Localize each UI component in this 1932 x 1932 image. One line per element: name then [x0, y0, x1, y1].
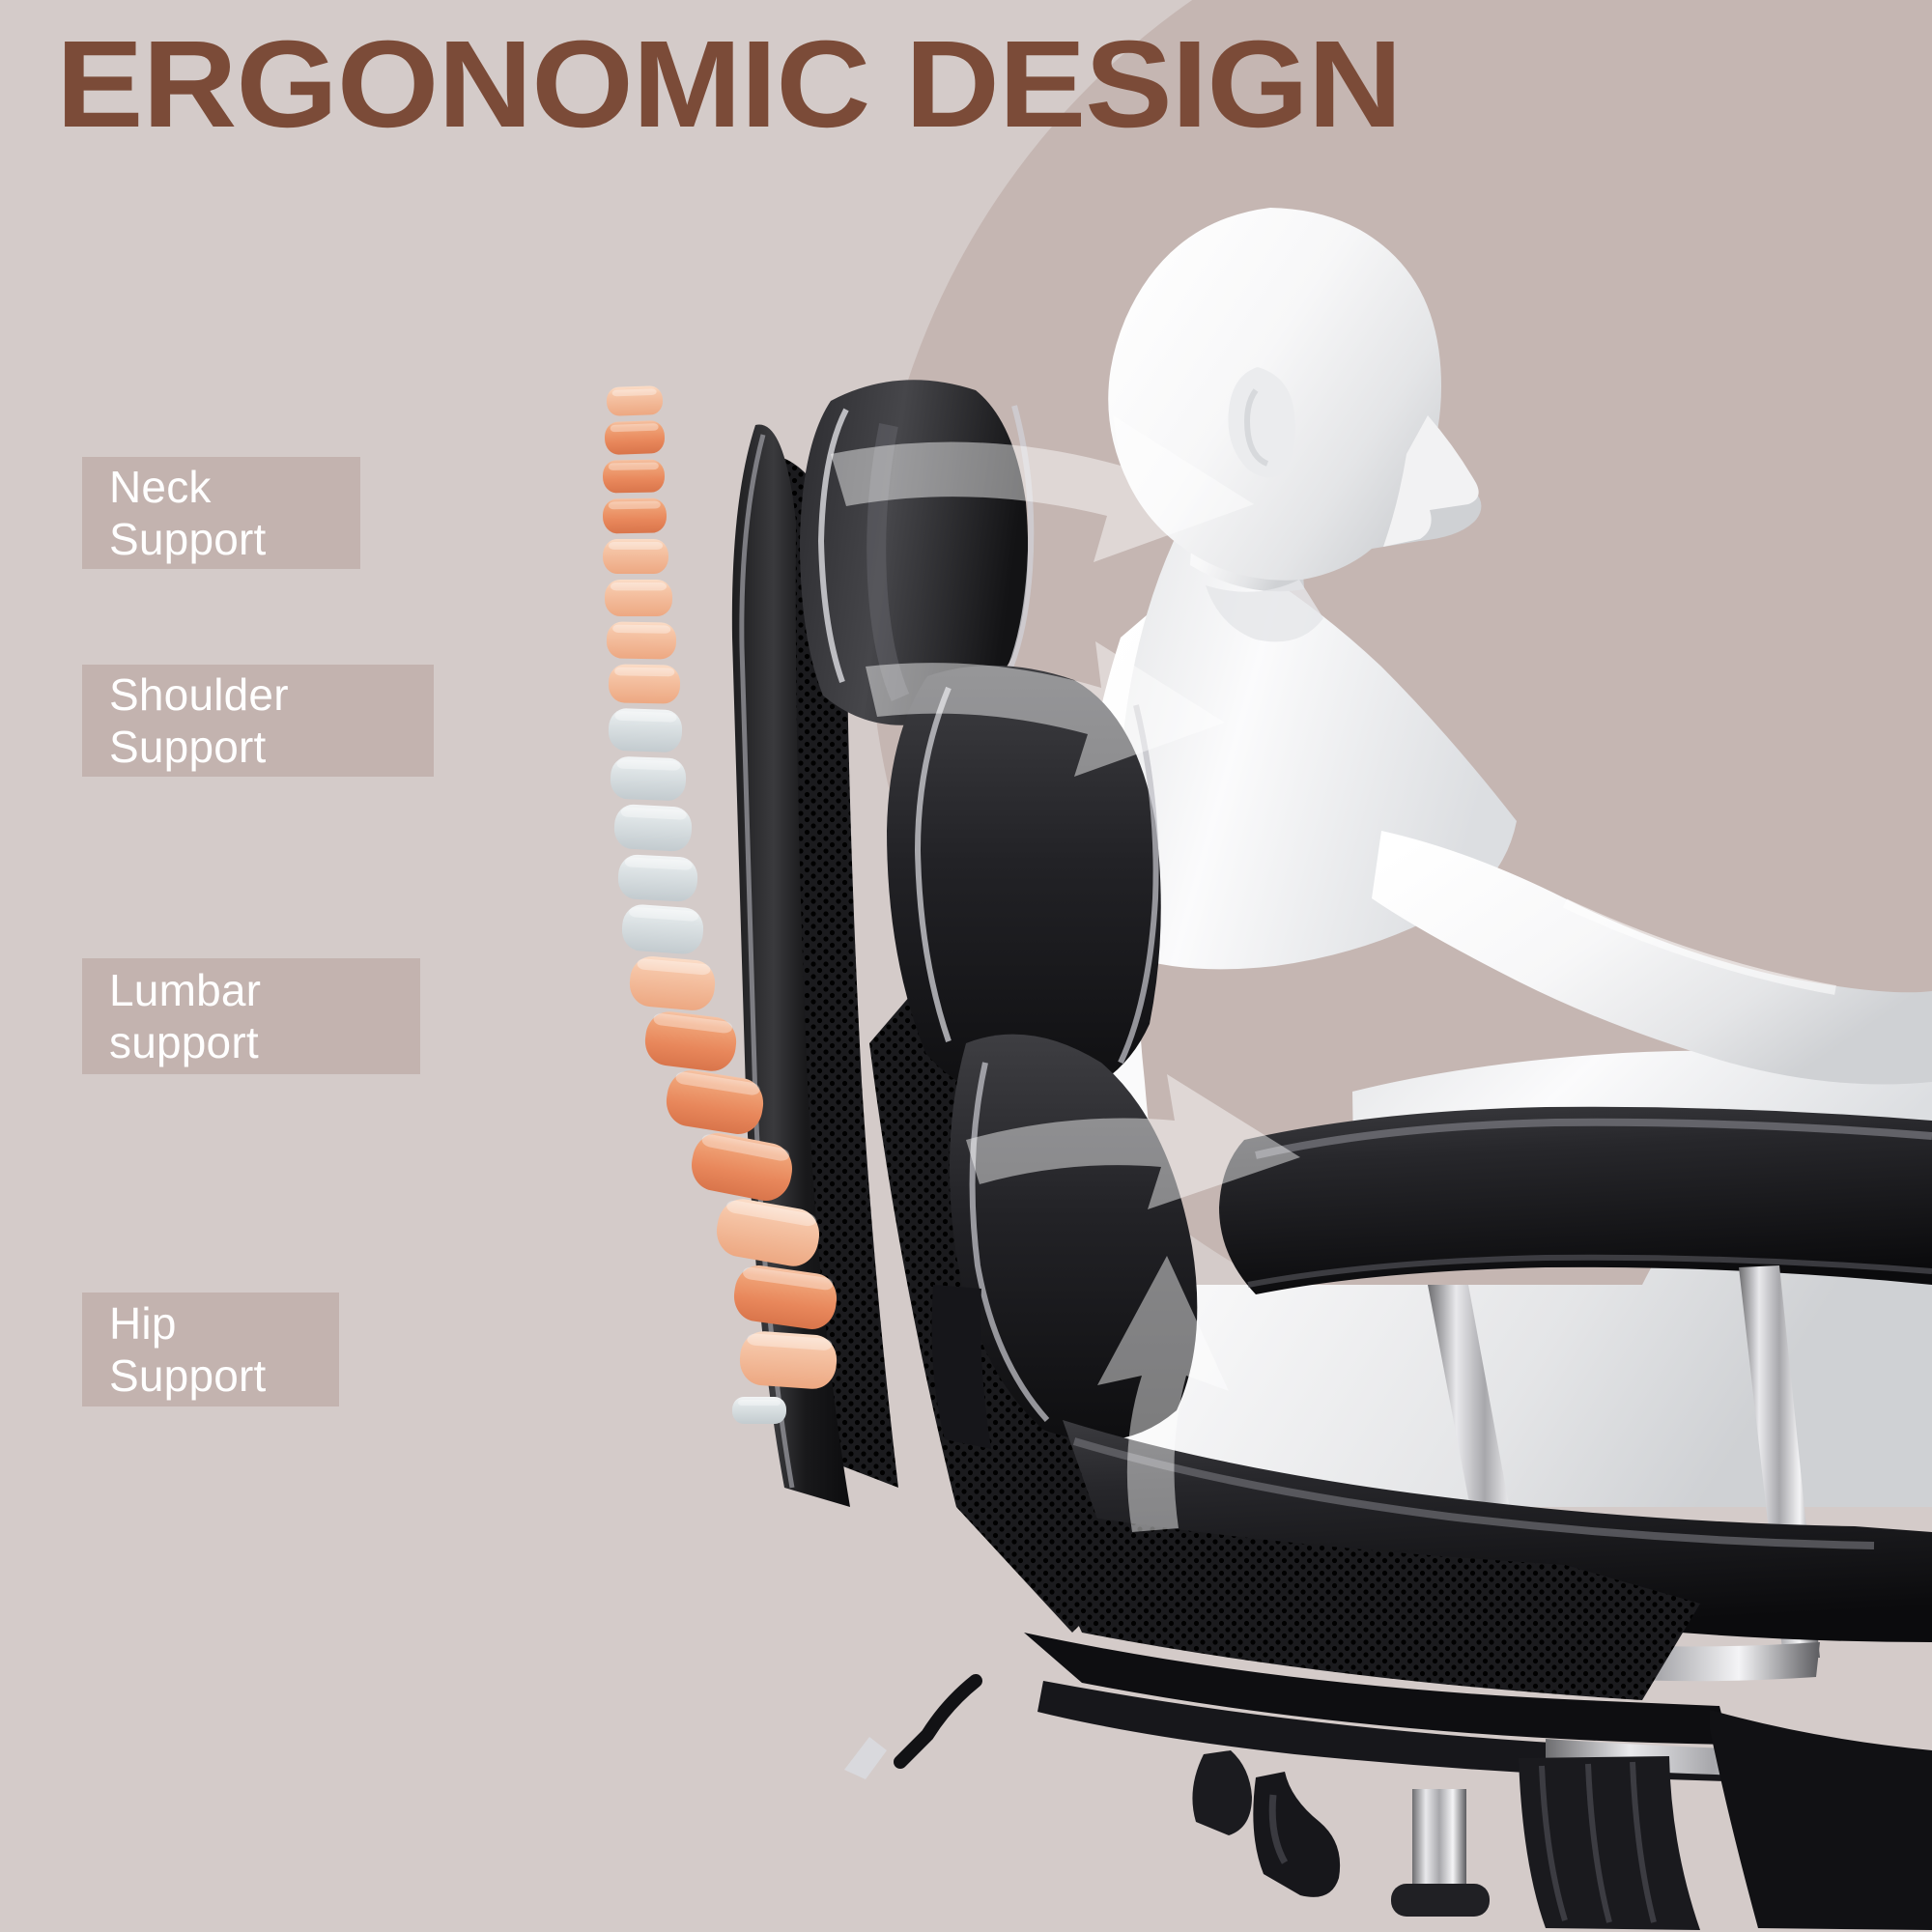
feature-label-hip: Hip Support [82, 1293, 339, 1406]
poster-canvas: ERGONOMIC DESIGN Neck Support Shoulder S… [0, 0, 1932, 1932]
page-title: ERGONOMIC DESIGN [56, 23, 1402, 147]
feature-label-shoulder: Shoulder Support [82, 665, 434, 777]
feature-label-lumbar: Lumbar support [82, 958, 420, 1074]
feature-label-neck: Neck Support [82, 457, 360, 569]
